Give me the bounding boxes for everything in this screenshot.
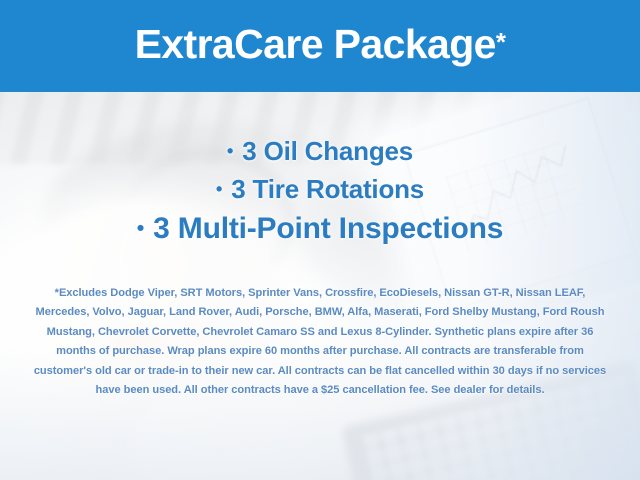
benefit-item-tire-rotations: •3 Tire Rotations bbox=[0, 170, 640, 208]
benefit-label: 3 Oil Changes bbox=[242, 136, 413, 166]
header-banner: ExtraCare Package* bbox=[0, 0, 640, 92]
benefit-item-oil-changes: •3 Oil Changes bbox=[0, 132, 640, 170]
disclaimer-text: *Excludes Dodge Viper, SRT Motors, Sprin… bbox=[30, 284, 610, 400]
benefit-label: 3 Tire Rotations bbox=[231, 174, 424, 204]
benefit-item-multi-point-inspections: •3 Multi-Point Inspections bbox=[0, 208, 640, 250]
page-title: ExtraCare Package* bbox=[0, 0, 640, 92]
extracare-package-ad: ExtraCare Package* •3 Oil Changes •3 Tir… bbox=[0, 0, 640, 480]
benefit-label: 3 Multi-Point Inspections bbox=[153, 212, 503, 245]
page-title-text: ExtraCare Package bbox=[135, 24, 496, 65]
ad-content: •3 Oil Changes •3 Tire Rotations •3 Mult… bbox=[0, 92, 640, 480]
benefits-list: •3 Oil Changes •3 Tire Rotations •3 Mult… bbox=[0, 132, 640, 250]
